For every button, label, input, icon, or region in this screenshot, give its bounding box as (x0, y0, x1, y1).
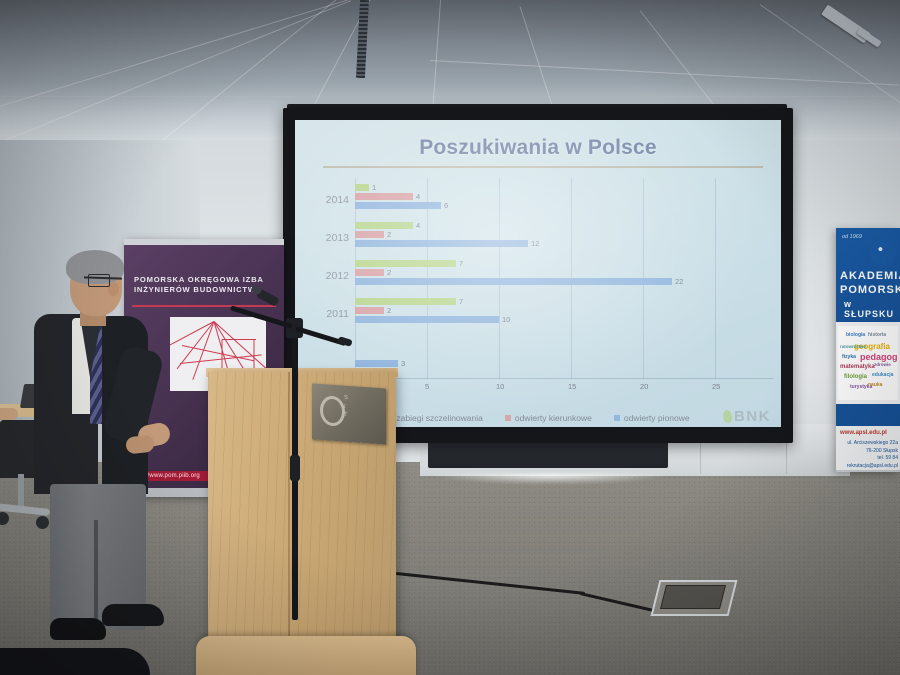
legend-label-szczelinowania: zabiegi szczelinowania (396, 413, 482, 423)
bar-label-2013-pionowe: 12 (531, 239, 539, 248)
y-tick-2013: 2013 (313, 232, 349, 244)
plaque-line-1: S (344, 394, 348, 403)
chart-plot-area: 2014 1 4 6 2013 4 2 12 2012 (313, 178, 773, 393)
university-crest-icon (870, 240, 896, 266)
bar-2011-pionowe (355, 316, 499, 323)
bar-label-2011-kierunkowe: 2 (387, 306, 391, 315)
bar-2014-szczelinowania (355, 184, 369, 191)
bar-label-2014-pionowe: 6 (444, 201, 448, 210)
bar-2011-szczelinowania (355, 298, 456, 305)
legend-label-pionowe: odwierty pionowe (624, 413, 690, 423)
legend-label-kierunkowe: odwierty kierunkowe (515, 413, 592, 423)
banner-right-website: www.apsl.edu.pl (840, 430, 887, 436)
y-tick-2011: 2011 (313, 308, 349, 320)
x-tick-20: 20 (640, 382, 648, 391)
banner-right-line3: w SŁUPSKU (844, 299, 900, 319)
address-line-2: 76-200 Słupsk (838, 448, 898, 456)
wordcloud-word: historia (868, 332, 886, 338)
presentation-room-photo: Poszukiwania w Polsce 2014 1 (0, 0, 900, 675)
bar-2012-pionowe (355, 278, 672, 285)
gridline-25 (715, 178, 716, 379)
bar-label-2012-pionowe: 22 (675, 277, 683, 286)
address-line-1: ul. Arciszewskiego 22a (838, 440, 898, 448)
bar-label-2014-szczelinowania: 1 (372, 183, 376, 192)
wordcloud-word: nauka (868, 382, 882, 388)
foreground-chair-back (196, 636, 416, 675)
slide-title: Poszukiwania w Polsce (295, 136, 781, 160)
wordcloud-word: matematyka (840, 364, 875, 370)
plaque-line-2: I (344, 403, 348, 412)
banner-right-wordcloud: geografia biologia historia pedagogika f… (838, 326, 898, 400)
bar-label-2011-pionowe: 10 (502, 315, 510, 324)
banner-right-line2: POMORSKA (840, 284, 900, 296)
x-tick-15: 15 (568, 382, 576, 391)
plaque-line-3: T (344, 411, 348, 420)
banner-right-line1: AKADEMIA (840, 270, 900, 282)
legend-item-pionowe: odwierty pionowe (614, 413, 690, 423)
legend-item-kierunkowe: odwierty kierunkowe (505, 413, 592, 423)
x-tick-10: 10 (496, 382, 504, 391)
wordcloud-word: biologia (846, 332, 865, 338)
address-line-3: tel. 59 84 (838, 455, 898, 463)
left-hand (125, 435, 155, 455)
title-divider (323, 166, 763, 168)
floor-socket-inner (660, 585, 726, 609)
bnk-wordmark: BNK (734, 408, 771, 425)
banner-akademia-pomorska: od 1969 AKADEMIA POMORSKA w SŁUPSKU geog… (836, 228, 900, 472)
plaque-text: S I T (344, 394, 348, 420)
x-tick-25: 25 (712, 382, 720, 391)
banner-right-since: od 1969 (842, 234, 862, 240)
bar-label-2013-kierunkowe: 2 (387, 230, 391, 239)
banner-top-rail (124, 239, 284, 245)
bar-label-2011-szczelinowania: 7 (459, 297, 463, 306)
bar-label-2010-pionowe: 3 (401, 359, 405, 368)
bar-2010-pionowe (355, 360, 398, 367)
podium-panel-seam (288, 372, 290, 662)
bar-2014-pionowe (355, 202, 441, 209)
legend-swatch-red (505, 415, 511, 421)
bar-label-2012-szczelinowania: 7 (459, 259, 463, 268)
bar-2013-pionowe (355, 240, 528, 247)
banner-right-address: ul. Arciszewskiego 22a 76-200 Słupsk tel… (838, 440, 898, 470)
wordcloud-word: pedagogika (860, 352, 898, 362)
bar-2013-szczelinowania (355, 222, 413, 229)
bar-label-2014-kierunkowe: 4 (416, 192, 420, 201)
banner-right-base (836, 470, 900, 472)
address-line-4: rekrutacja@apsl.edu.pl (838, 463, 898, 471)
bar-2014-kierunkowe (355, 193, 413, 200)
office-chair-post (18, 474, 24, 508)
x-tick-5: 5 (425, 382, 429, 391)
bar-2012-kierunkowe (355, 269, 384, 276)
bar-2013-kierunkowe (355, 231, 384, 238)
bar-label-2013-szczelinowania: 4 (416, 221, 420, 230)
banner-right-blue-bar (836, 404, 900, 426)
air-vent (356, 0, 369, 78)
legend-item-szczelinowania: zabiegi szczelinowania (386, 413, 482, 423)
radiator-light-reflection (432, 474, 668, 484)
speaker (28, 252, 173, 675)
left-shoe (50, 618, 106, 640)
trouser-leg-seam (94, 520, 98, 630)
flame-drop-icon (722, 409, 733, 423)
wordcloud-word: filologia (844, 374, 867, 380)
wordcloud-word: ratownictwo (840, 344, 866, 349)
seated-person-hand (0, 408, 18, 420)
right-shoe (102, 604, 164, 626)
legend-swatch-blue (614, 415, 620, 421)
bar-2011-kierunkowe (355, 307, 384, 314)
wordcloud-word: edukacja (872, 372, 893, 378)
microphone-pole-clamp (290, 455, 300, 481)
bnk-logo: BNK (723, 408, 771, 425)
y-tick-2012: 2012 (313, 270, 349, 282)
foreground-shadow (0, 648, 150, 675)
wordcloud-word: fizyka (842, 354, 856, 360)
wordcloud-word: zdrowie (874, 362, 891, 367)
bar-2012-szczelinowania (355, 260, 456, 267)
bar-label-2012-kierunkowe: 2 (387, 268, 391, 277)
y-tick-2014: 2014 (313, 194, 349, 206)
